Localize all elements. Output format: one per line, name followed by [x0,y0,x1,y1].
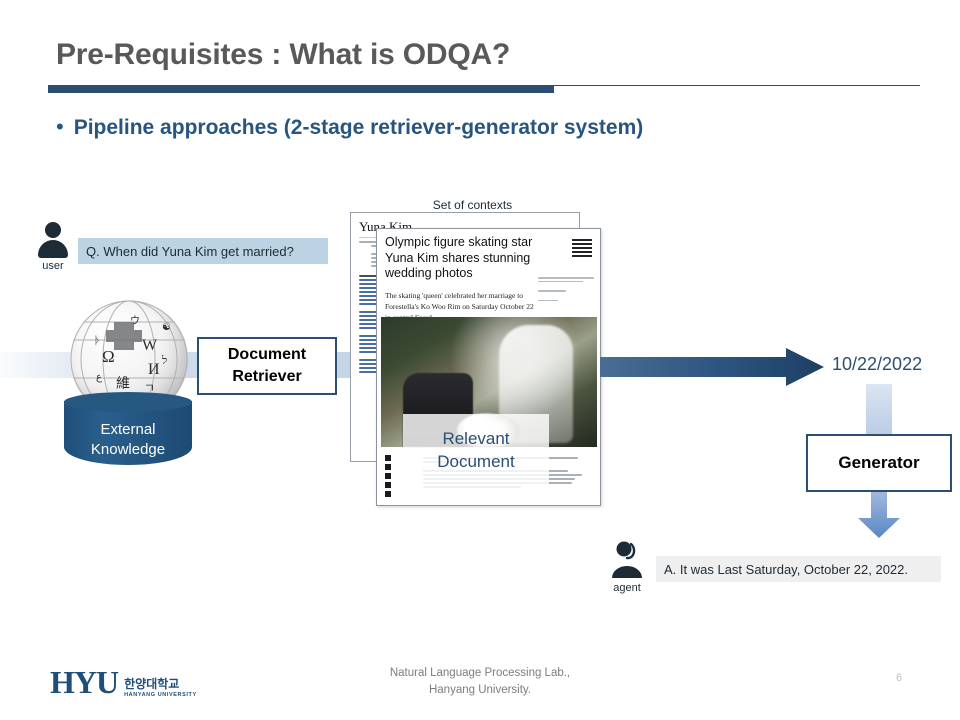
svg-text:維: 維 [116,376,130,392]
news-byline [538,275,594,303]
svg-text:ウ: ウ [130,315,140,327]
relevant-document-overlay: Relevant Document [403,414,549,488]
email-icon [385,473,391,479]
slide-canvas: Pre-Requisites : What is ODQA? • Pipelin… [0,0,960,720]
bullet-text: Pipeline approaches (2-stage retriever-g… [74,116,644,140]
svg-text:И: И [148,361,160,378]
hyu-logo-mark: HYU [50,666,118,698]
link-icon [385,482,391,488]
svg-text:ל: ל [161,355,167,367]
generator-output-arrow [858,492,900,538]
news-document: Olympic figure skating star Yuna Kim sha… [376,228,601,506]
hyu-logo-korean: 한양대학교 [124,678,197,692]
svg-text:W: W [142,337,158,354]
generator-box: Generator [806,434,952,492]
agent-group: agent [604,540,650,594]
person-icon [34,222,72,258]
page-number: 6 [896,672,902,684]
bullet-marker: • [56,116,64,138]
footer-note: Natural Language Processing Lab., Hanyan… [330,665,630,700]
relevant-overlay-line1: Relevant [442,428,509,451]
user-group: user [30,222,76,272]
hyu-logo: HYU 한양대학교 HANYANG UNIVERSITY [50,666,197,698]
generator-input-connector [866,384,892,440]
database-cylinder: External Knowledge [64,392,192,474]
bullet-row: • Pipeline approaches (2-stage retriever… [56,116,643,140]
svg-text:ᚦ: ᚦ [94,335,101,347]
hyu-logo-english: HANYANG UNIVERSITY [124,692,197,698]
retrieval-to-answer-arrow [600,348,824,386]
wedding-photo: Relevant Document [381,317,597,447]
document-retriever-box: Document Retriever [197,337,337,395]
footer-note-line2: Hanyang University. [330,682,630,699]
set-of-contexts-label: Set of contexts [400,198,545,212]
external-knowledge-group: Ω W И 維 ㄱ ᚦ ל ক ع ウ ☯ External Knowle [52,300,202,475]
svg-text:Ω: Ω [102,347,115,366]
knowledge-label-line1: External [64,420,192,440]
save-icon [385,491,391,497]
footer-note-line1: Natural Language Processing Lab., [330,665,630,682]
twitter-icon [385,464,391,470]
qr-code-icon [572,237,592,257]
answer-date: 10/22/2022 [832,354,922,375]
user-caption: user [30,260,76,272]
svg-text:☯: ☯ [162,322,171,333]
facebook-icon [385,455,391,461]
title-rule-thick [48,85,554,93]
answer-bubble: A. It was Last Saturday, October 22, 202… [656,556,941,582]
svg-text:ع: ع [96,372,102,383]
news-headline: Olympic figure skating star Yuna Kim sha… [385,235,537,282]
knowledge-label-line2: Knowledge [64,440,192,460]
retriever-label-line2: Retriever [232,366,301,388]
share-icons [385,455,395,497]
retriever-label-line1: Document [228,344,306,366]
question-bubble: Q. When did Yuna Kim get married? [78,238,328,264]
page-title: Pre-Requisites : What is ODQA? [56,38,510,72]
hyu-logo-text: 한양대학교 HANYANG UNIVERSITY [124,678,197,698]
agent-caption: agent [604,582,650,594]
relevant-overlay-line2: Document [437,451,514,474]
agent-headset-icon [607,540,647,580]
